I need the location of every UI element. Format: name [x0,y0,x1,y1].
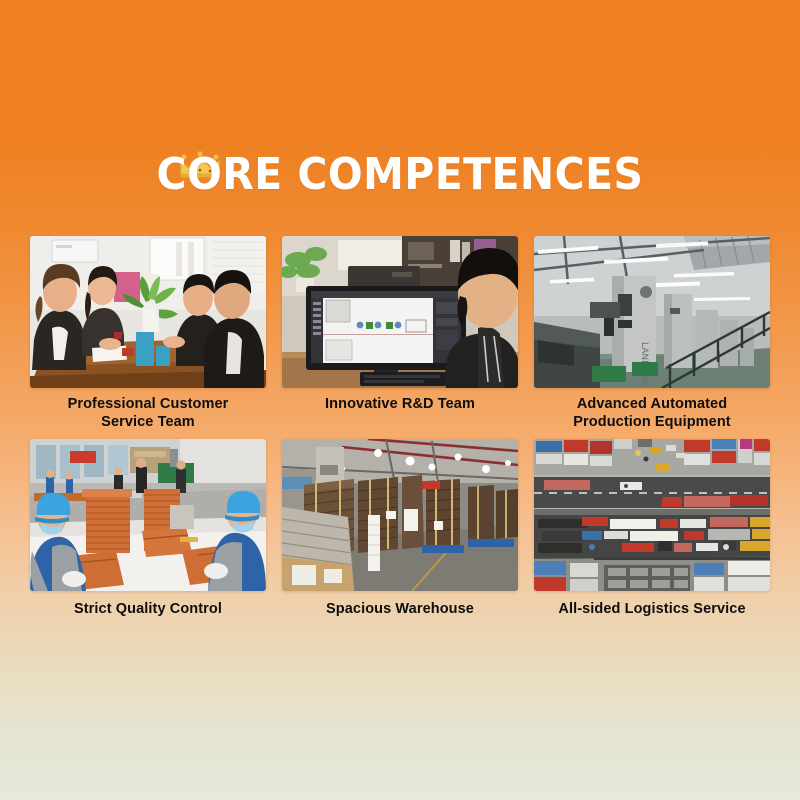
caption-professional-customer-service-team: Professional Customer Service Team [30,395,266,431]
designer-at-computer-workstation-image [282,236,518,388]
caption-line-1: Innovative R&D Team [325,396,475,412]
page-title: CORE COMPETENCES [28,150,772,200]
caption-line-1: Spacious Warehouse [326,601,474,617]
caption-spacious-warehouse: Spacious Warehouse [282,600,518,618]
warehouse-stacked-cardboard-pallets-image [282,439,518,591]
caption-strict-quality-control: Strict Quality Control [30,600,266,618]
aerial-view-container-yard-trucks-image [534,439,770,591]
industrial-printing-press-line-image: LAND 800 [534,236,770,388]
caption-line-2: Production Equipment [573,414,730,430]
competence-card-spacious-warehouse[interactable]: Spacious Warehouse [282,439,518,618]
caption-line-1: Advanced Automated [577,396,727,412]
caption-all-sided-logistics-service: All-sided Logistics Service [534,600,770,618]
competence-card-innovative-rd-team[interactable]: Innovative R&D Team [282,236,518,431]
meeting-room-team-discussion-image [30,236,266,388]
caption-innovative-rd-team: Innovative R&D Team [282,395,518,413]
caption-line-2: Service Team [101,414,195,430]
competence-grid: Professional Customer Service Team [30,236,770,618]
competence-card-all-sided-logistics-service[interactable]: All-sided Logistics Service [534,439,770,618]
competence-card-strict-quality-control[interactable]: Strict Quality Control [30,439,266,618]
workers-inspecting-boxes-factory-image [30,439,266,591]
caption-line-1: Strict Quality Control [74,601,222,617]
core-competences-banner: CORE COMPETENCES [0,0,800,800]
title-block: CORE COMPETENCES [0,150,800,200]
competence-card-professional-customer-service-team[interactable]: Professional Customer Service Team [30,236,266,431]
competence-card-advanced-automated-production-equipment[interactable]: LAND 800 [534,236,770,431]
caption-line-1: Professional Customer [68,396,229,412]
caption-line-1: All-sided Logistics Service [558,601,745,617]
caption-advanced-automated-production-equipment: Advanced Automated Production Equipment [534,395,770,431]
